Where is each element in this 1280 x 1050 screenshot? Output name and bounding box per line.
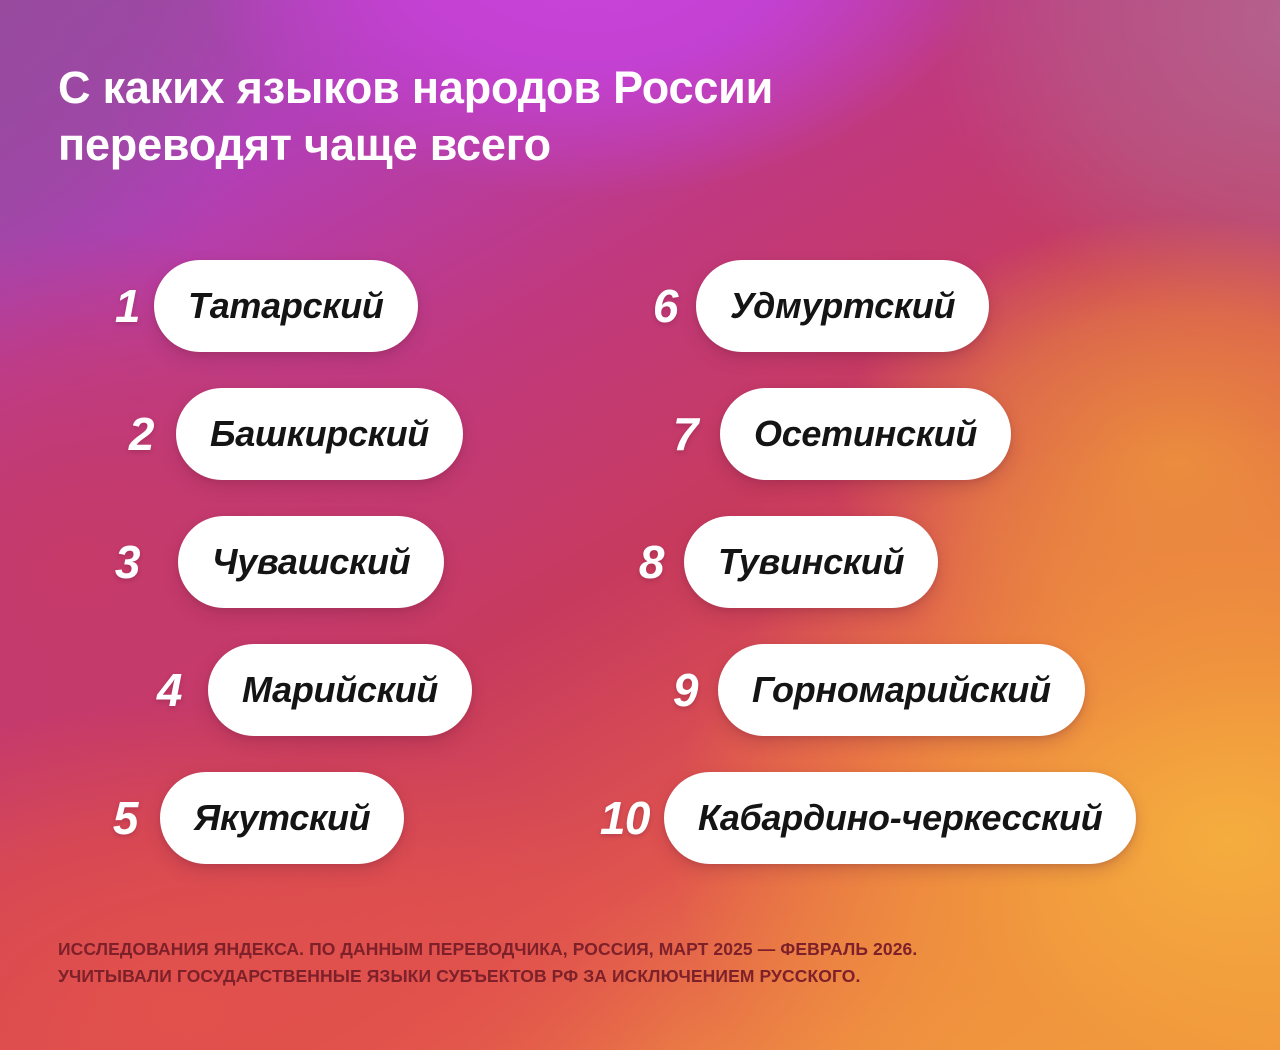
infographic-poster: С каких языков народов России переводят … — [0, 0, 1280, 1050]
language-label-9: Горномарийский — [752, 672, 1051, 708]
rank-number-9: 9 — [640, 667, 698, 713]
rank-number-10: 10 — [566, 795, 650, 841]
ranking-item-5[interactable]: 5 Якутский — [86, 767, 404, 869]
rank-number-4: 4 — [130, 667, 182, 713]
language-label-2: Башкирский — [210, 416, 429, 452]
language-pill-7[interactable]: Осетинский — [720, 388, 1011, 480]
language-label-4: Марийский — [242, 672, 438, 708]
rank-number-1: 1 — [88, 283, 140, 329]
rank-number-5: 5 — [86, 795, 138, 841]
language-pill-4[interactable]: Марийский — [208, 644, 472, 736]
language-pill-8[interactable]: Тувинский — [684, 516, 938, 608]
ranking-item-2[interactable]: 2 Башкирский — [102, 383, 463, 485]
language-pill-6[interactable]: Удмуртский — [696, 260, 989, 352]
ranking-item-10[interactable]: 10 Кабардино-черкесский — [566, 767, 1136, 869]
language-pill-9[interactable]: Горномарийский — [718, 644, 1085, 736]
language-label-5: Якутский — [194, 800, 370, 836]
language-label-7: Осетинский — [754, 416, 977, 452]
ranking-item-1[interactable]: 1 Татарский — [88, 255, 418, 357]
language-label-1: Татарский — [188, 288, 384, 324]
rank-number-8: 8 — [606, 539, 664, 585]
language-label-10: Кабардино-черкесский — [698, 800, 1102, 836]
ranking-item-7[interactable]: 7 Осетинский — [640, 383, 1011, 485]
ranking-item-3[interactable]: 3 Чувашский — [88, 511, 444, 613]
rank-number-7: 7 — [640, 411, 698, 457]
ranking-item-8[interactable]: 8 Тувинский — [606, 511, 938, 613]
source-footnote: Исследования Яндекса. По данным Переводч… — [58, 936, 1218, 989]
language-label-8: Тувинский — [718, 544, 904, 580]
rank-number-2: 2 — [102, 411, 154, 457]
language-pill-2[interactable]: Башкирский — [176, 388, 463, 480]
rank-number-3: 3 — [88, 539, 140, 585]
ranking-item-6[interactable]: 6 Удмуртский — [620, 255, 989, 357]
language-pill-3[interactable]: Чувашский — [178, 516, 444, 608]
language-pill-10[interactable]: Кабардино-черкесский — [664, 772, 1136, 864]
language-pill-5[interactable]: Якутский — [160, 772, 404, 864]
rank-number-6: 6 — [620, 283, 678, 329]
language-label-6: Удмуртский — [730, 288, 955, 324]
page-title: С каких языков народов России переводят … — [58, 60, 1058, 173]
ranking-item-4[interactable]: 4 Марийский — [130, 639, 472, 741]
language-pill-1[interactable]: Татарский — [154, 260, 418, 352]
poster-content: С каких языков народов России переводят … — [0, 0, 1280, 1050]
language-label-3: Чувашский — [212, 544, 410, 580]
ranking-item-9[interactable]: 9 Горномарийский — [640, 639, 1085, 741]
